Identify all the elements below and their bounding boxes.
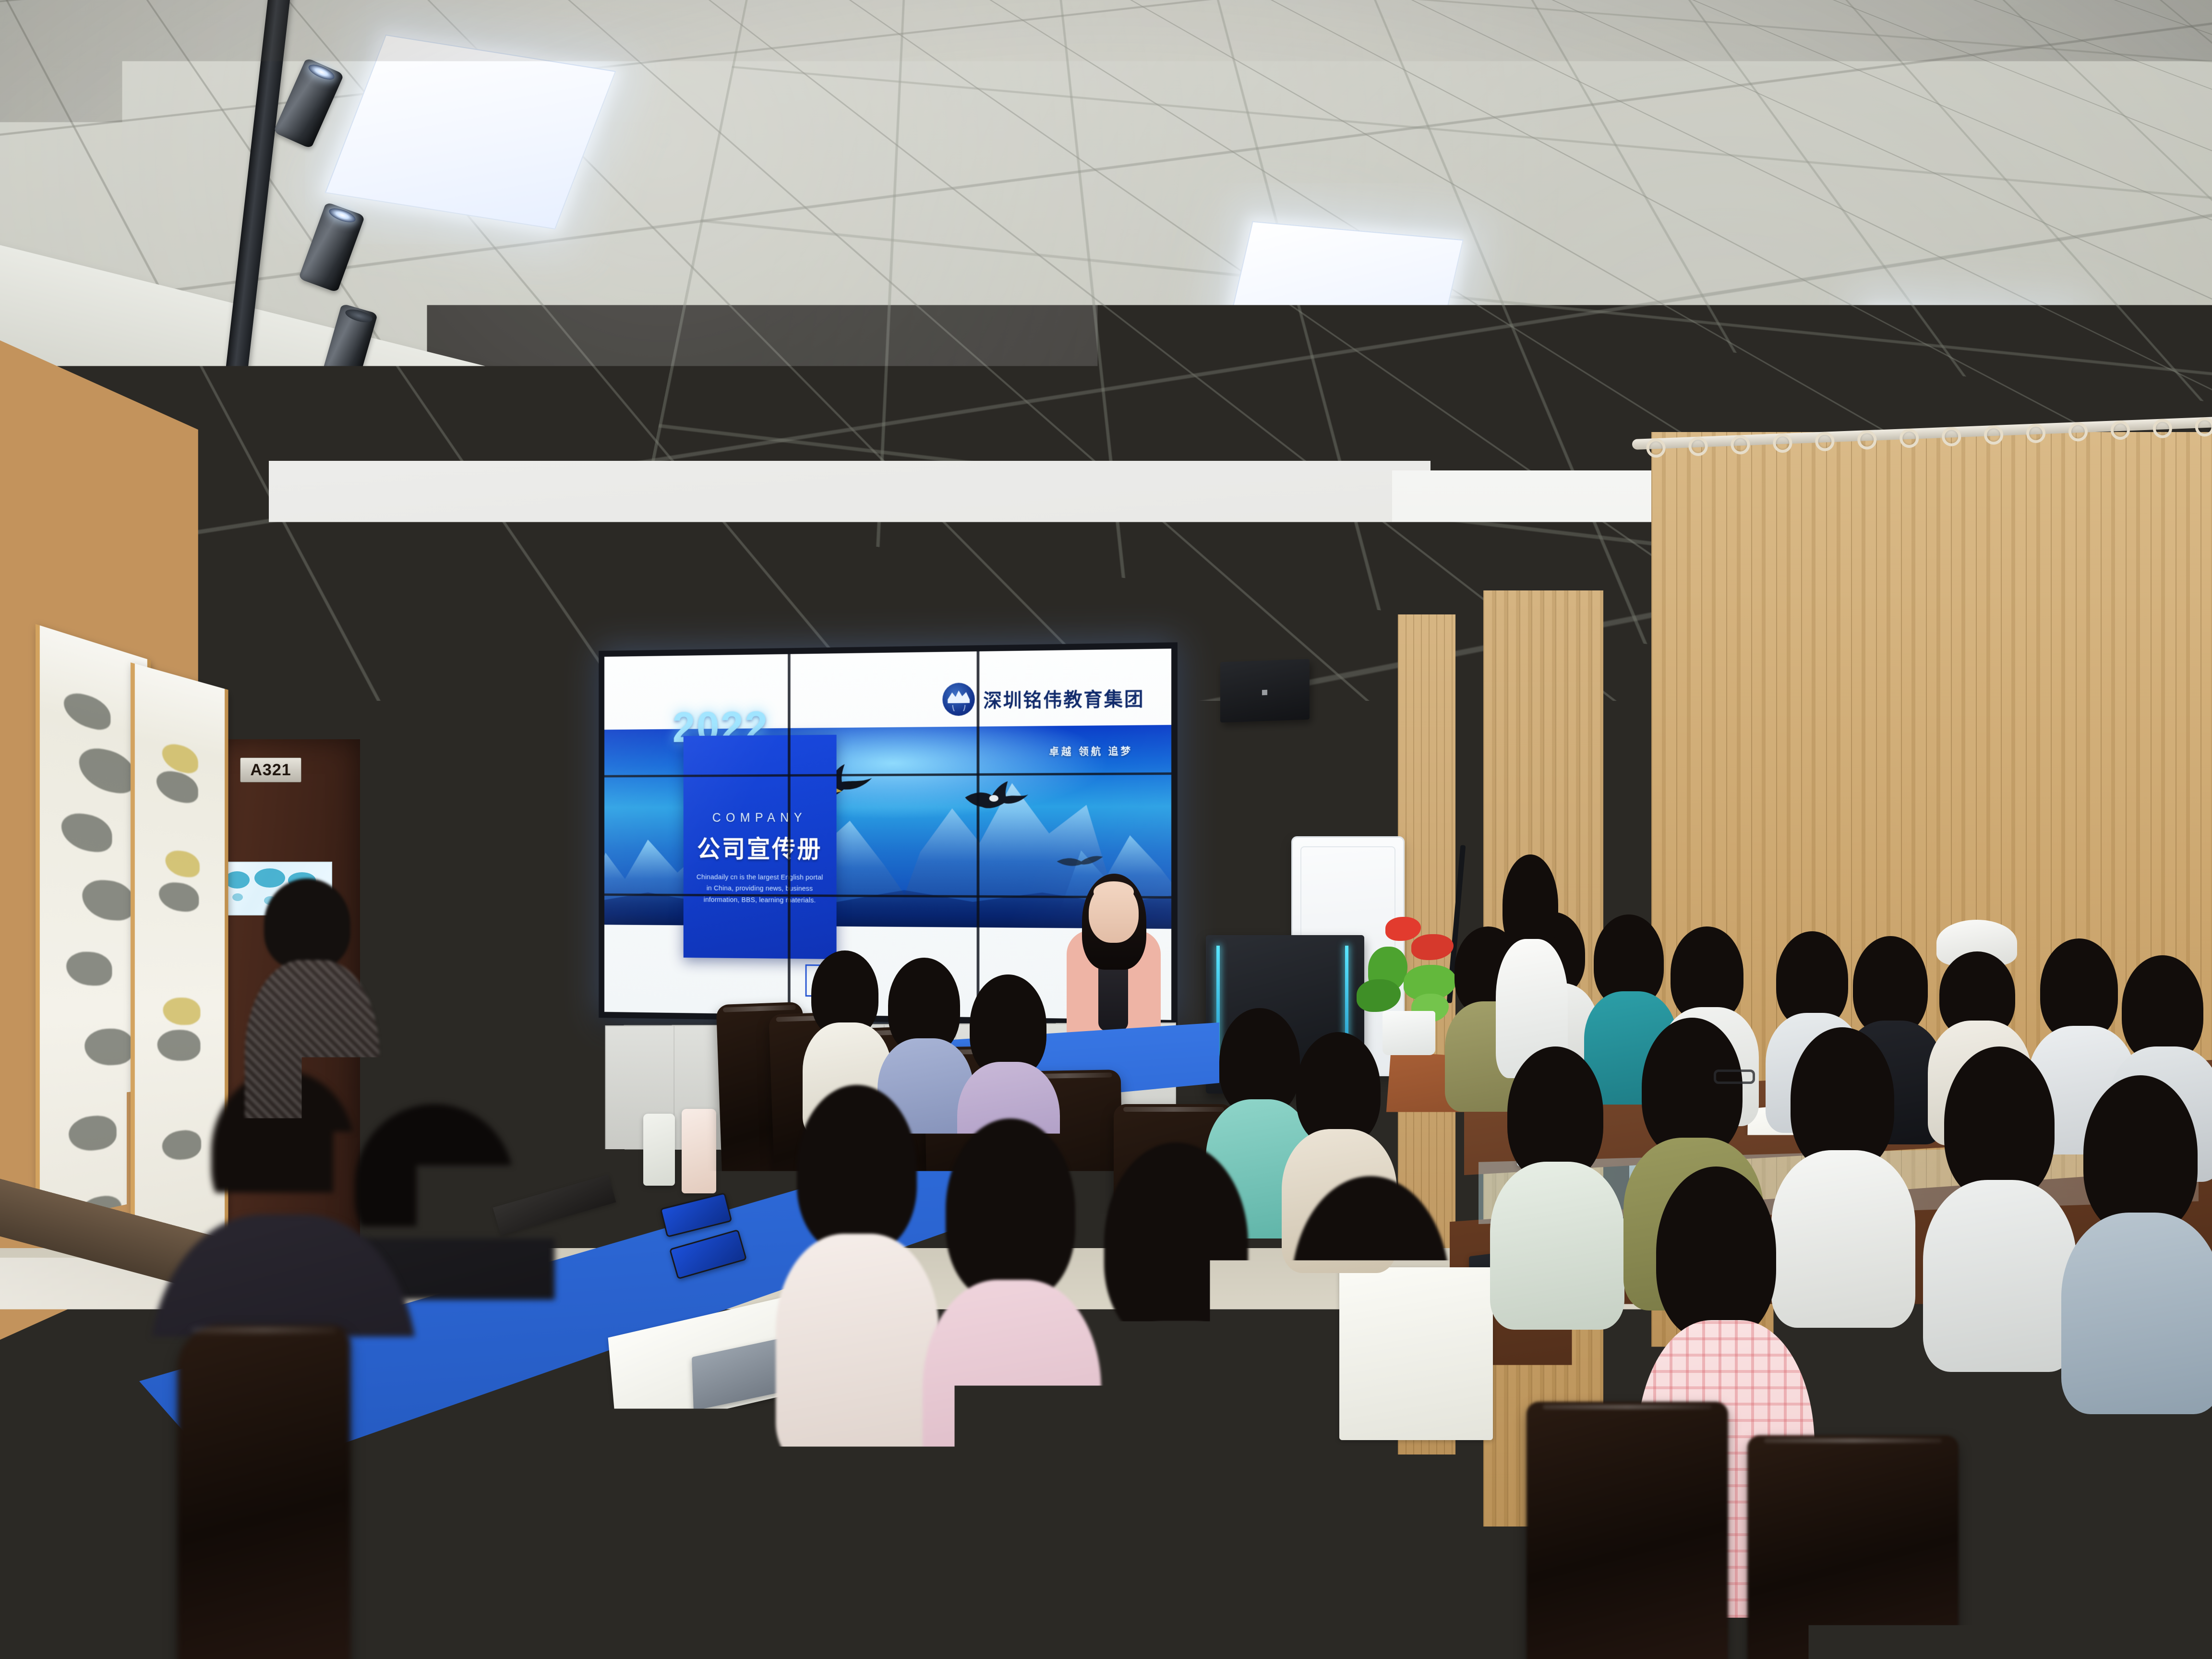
- glasses-icon: [1714, 1070, 1755, 1084]
- chair[interactable]: [1747, 1435, 1959, 1659]
- brand-name: 深圳铭伟教育集团: [983, 684, 1144, 713]
- eagle-icon: [1054, 847, 1106, 877]
- mountain-wave-logo-icon: [942, 683, 974, 716]
- thermos-bottle: [682, 1109, 716, 1193]
- wall-speaker-left: ◼: [313, 620, 442, 707]
- speaker-logo-icon: ◼: [373, 660, 381, 670]
- speaker-logo-icon: ◼: [1261, 687, 1268, 697]
- room-number-plate: A321: [240, 757, 301, 782]
- slide-title-card: COMPANY 公司宣传册 Chinadaily cn is the large…: [684, 735, 836, 959]
- eagle-icon: [962, 779, 1031, 822]
- brand-tagline: 卓越 领航 追梦: [1049, 744, 1133, 758]
- chair[interactable]: [989, 1431, 1171, 1659]
- water-bottle: [643, 1114, 675, 1186]
- glasses-icon: [494, 1200, 571, 1222]
- presenter-head: [1089, 882, 1139, 943]
- chair[interactable]: [1959, 1258, 2160, 1594]
- jeans: [542, 1382, 744, 1632]
- ink-scroll-painting-chrysanthemum: [131, 662, 228, 1296]
- brand-logo: 深圳铭伟教育集团: [942, 681, 1144, 716]
- wall-speaker-right: ◼: [1220, 659, 1310, 722]
- slide-description: Chinadaily cn is the largest English por…: [696, 872, 824, 907]
- chair[interactable]: [1527, 1402, 1728, 1659]
- conference-room-photo: A321: [0, 0, 2212, 1659]
- chair[interactable]: [178, 1325, 350, 1659]
- ceiling-led-panel: [1225, 221, 1464, 360]
- slide-headline-cn: 公司宣传册: [697, 829, 822, 865]
- tshirt-graphic-icon: [1166, 1411, 1238, 1469]
- slide-headline-en: COMPANY: [712, 810, 807, 825]
